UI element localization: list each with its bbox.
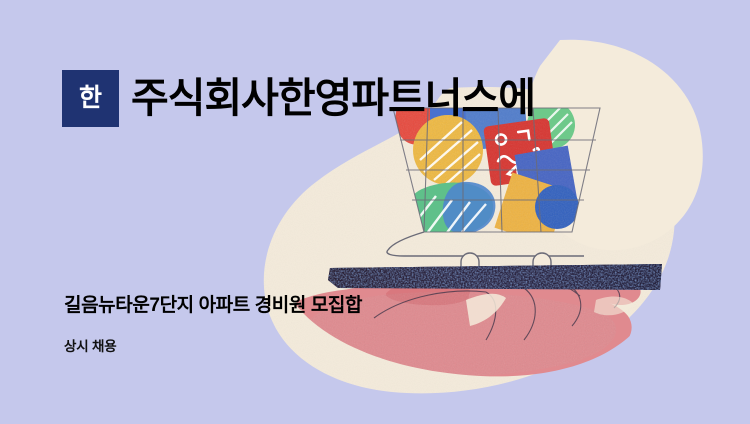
employment-type-label: 상시 채용 <box>64 338 116 356</box>
shopping-cart-illustration <box>0 0 750 424</box>
job-title: 길음뉴타운7단지 아파트 경비원 모집합 <box>64 294 362 319</box>
cart-item-blue-dot-circle <box>535 185 579 229</box>
company-header: 한 주식회사한영파트너스에 <box>62 70 535 127</box>
job-posting-banner: 한 주식회사한영파트너스에 길음뉴타운7단지 아파트 경비원 모집합 상시 채용 <box>0 0 750 424</box>
company-logo-badge: 한 <box>62 70 119 127</box>
company-name: 주식회사한영파트너스에 <box>131 78 535 119</box>
dark-platform-bar-front-edge <box>328 264 662 290</box>
